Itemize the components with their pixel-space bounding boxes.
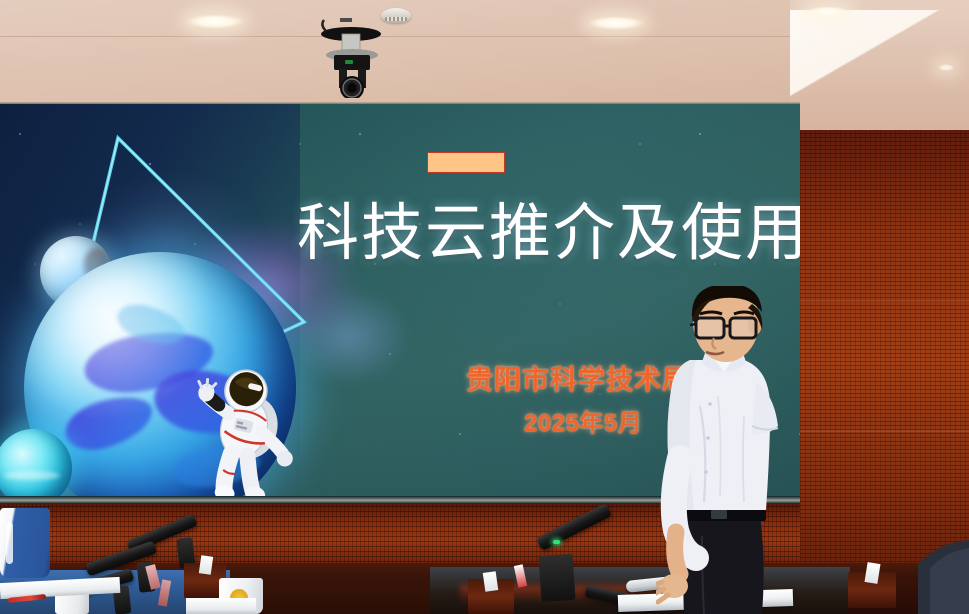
ceiling-edge-line (0, 36, 790, 37)
presenter-hand (660, 574, 688, 598)
ceiling-light-2 (588, 16, 644, 30)
nameplate-card (199, 555, 213, 574)
slide-title: 科技云推介及使用 (297, 203, 800, 265)
secondary-person-silhouette (878, 534, 969, 614)
slide-date: 2025年5月 (524, 412, 642, 436)
astronaut-figure (188, 366, 300, 502)
ceiling-light-3 (806, 6, 850, 18)
ceiling-light-4 (938, 64, 954, 71)
blue-cup (0, 508, 50, 578)
presenter (656, 286, 846, 614)
ceiling-projector (318, 18, 390, 98)
nameplate-card (483, 571, 499, 592)
paper-sheet (186, 598, 256, 614)
ceiling-light-1 (186, 14, 244, 29)
microphone-base (538, 554, 575, 602)
microphone-led-indicator (553, 540, 560, 544)
presentation-room-scene: 科技云推介及使用 贵阳市科学技术局 2025年5月 (0, 0, 969, 614)
smoke-detector (381, 8, 411, 23)
slide-accent-bar (427, 152, 505, 173)
presenter-glasses (690, 318, 756, 338)
